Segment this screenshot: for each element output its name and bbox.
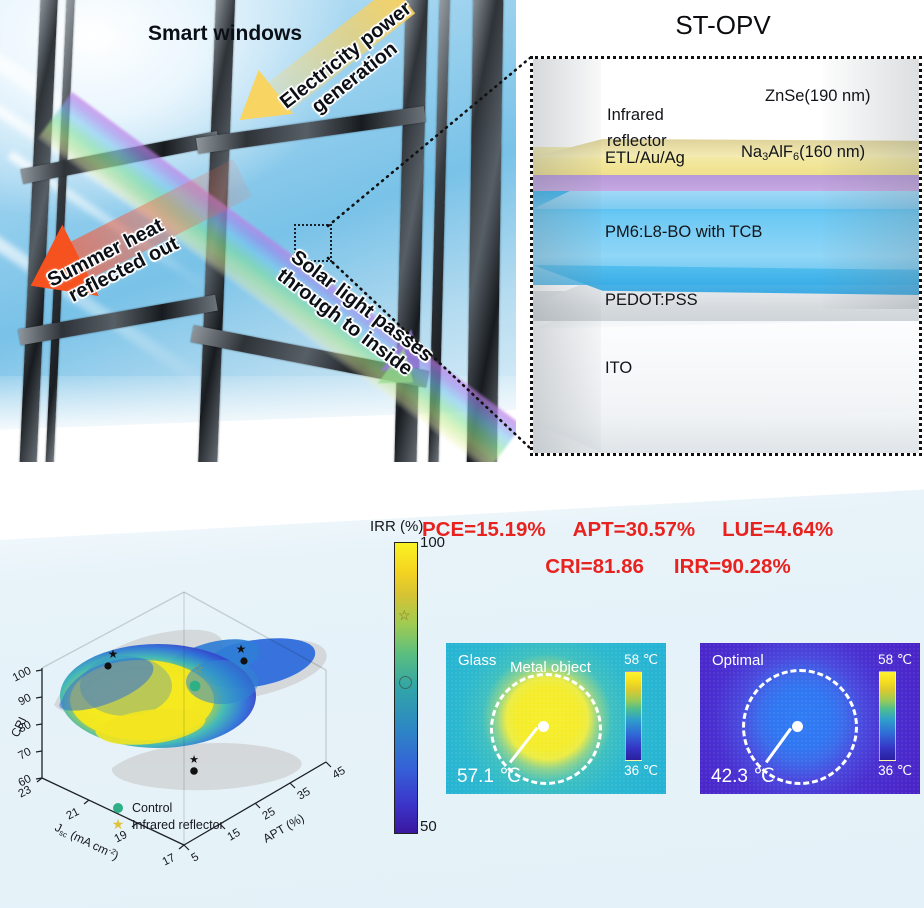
- apt-tick: 5: [190, 851, 202, 865]
- metrics-row-1: PCE=15.19% APT=30.57% LUE=4.64%: [418, 518, 918, 542]
- layer-label-znse: ZnSe(190 nm): [765, 87, 870, 106]
- axis-ticks-cri: [36, 670, 42, 779]
- thermal-cbar-max-glass: 58 ℃: [624, 652, 658, 668]
- data-point-infrared-reflector: ☆: [192, 661, 204, 676]
- layer-znse: [533, 56, 919, 91]
- shadow-circle-marker: [190, 767, 198, 775]
- thermal-colorbar-optimal: [879, 671, 896, 761]
- apt-tick: 25: [261, 806, 278, 823]
- shadow-circle-marker: [240, 657, 247, 664]
- top-panel: Smart windows Electricity power generati…: [0, 0, 924, 470]
- colorbar-star-marker: ☆: [398, 608, 411, 622]
- infrared-reflector-group-label: Infrared reflector: [607, 103, 667, 154]
- shadow-star-marker: ★: [189, 754, 199, 766]
- legend-marker-infrared-reflector: ★: [112, 816, 125, 832]
- shadow-circle-marker: [104, 662, 111, 669]
- thermal-title-glass: Glass: [458, 652, 496, 669]
- plot-legend: Control ★ Infrared reflector: [112, 801, 224, 832]
- smart-windows-title: Smart windows: [148, 22, 302, 46]
- layer-label-pedot: PEDOT:PSS: [605, 291, 698, 310]
- smart-window-photo: Smart windows Electricity power generati…: [0, 0, 516, 462]
- scatter-3d-plot: ★ ★ ★ ☆: [8, 500, 368, 900]
- legend-label-control: Control: [132, 801, 172, 815]
- layer-label-ito: ITO: [605, 359, 632, 378]
- layer-label-etl: ETL/Au/Ag: [605, 149, 685, 168]
- metric-pce: PCE=15.19%: [422, 518, 546, 542]
- cri-tick: 90: [17, 692, 34, 709]
- axis-label-cri: CRI: [8, 715, 29, 740]
- layer-znse-top-face: [533, 56, 919, 79]
- thermal-temperature-glass: 57.1 ℃: [457, 765, 521, 788]
- apt-tick: 45: [331, 765, 348, 782]
- jsc-tick: 17: [161, 852, 178, 869]
- metric-cri: CRI=81.86: [545, 555, 644, 579]
- scatter-3d-svg: ★ ★ ★ ☆: [8, 500, 368, 900]
- thermal-cbar-max-optimal: 58 ℃: [878, 652, 912, 668]
- thermal-colorbar-glass: [625, 671, 642, 761]
- layer-label-active: PM6:L8-BO with TCB: [605, 223, 762, 242]
- cri-tick: 100: [11, 665, 34, 684]
- shadow-star-marker: ★: [236, 642, 247, 656]
- metrics-row-2: CRI=81.86 IRR=90.28%: [418, 555, 918, 579]
- thermal-pointer-dot-glass: [538, 721, 549, 732]
- axis-label-jsc: Jsc (mA cm-2): [52, 820, 121, 864]
- apt-tick: 15: [226, 827, 243, 844]
- thermal-cbar-min-glass: 36 ℃: [624, 763, 658, 779]
- apt-tick: 35: [296, 786, 313, 803]
- layer-label-na3alf6: Na3AlF6(160 nm): [741, 143, 865, 162]
- results-panel: ★ ★ ★ ☆: [0, 470, 924, 908]
- thermal-pointer-dot-optimal: [792, 721, 803, 732]
- infrared-reflector-label-line1: Infrared: [607, 103, 667, 129]
- point-cloud-texture: [54, 632, 328, 754]
- cri-tick: 70: [17, 746, 34, 763]
- jsc-tick: 23: [17, 784, 34, 801]
- data-point-control: [190, 681, 201, 692]
- colorbar-title: IRR (%): [370, 518, 423, 535]
- metric-apt: APT=30.57%: [573, 518, 696, 542]
- jsc-tick: 21: [65, 806, 82, 823]
- thermal-temperature-optimal: 42.3 ℃: [711, 765, 775, 788]
- legend-label-infrared-reflector: Infrared reflector: [132, 818, 224, 832]
- thermal-title-optimal: Optimal: [712, 652, 764, 669]
- colorbar-min-label: 50: [420, 818, 437, 835]
- colorbar-circle-marker: [399, 676, 412, 689]
- graphical-abstract: Smart windows Electricity power generati…: [0, 0, 924, 908]
- performance-metrics: PCE=15.19% APT=30.57% LUE=4.64% CRI=81.8…: [418, 518, 918, 579]
- thermal-image-optimal: Optimal 42.3 ℃ 58 ℃ 36 ℃: [700, 643, 920, 794]
- legend-marker-control: [113, 803, 123, 813]
- metric-lue: LUE=4.64%: [722, 518, 833, 542]
- thermal-image-glass: Glass Metal object 57.1 ℃ 58 ℃ 36 ℃: [446, 643, 666, 794]
- metric-irr: IRR=90.28%: [674, 555, 791, 579]
- shadow-star-marker: ★: [108, 647, 119, 661]
- thermal-cbar-min-optimal: 36 ℃: [878, 763, 912, 779]
- device-stack-diagram: ZnSe(190 nm) Na3AlF6(160 nm) Infrared re…: [530, 56, 922, 456]
- device-stack-title: ST-OPV: [522, 10, 924, 41]
